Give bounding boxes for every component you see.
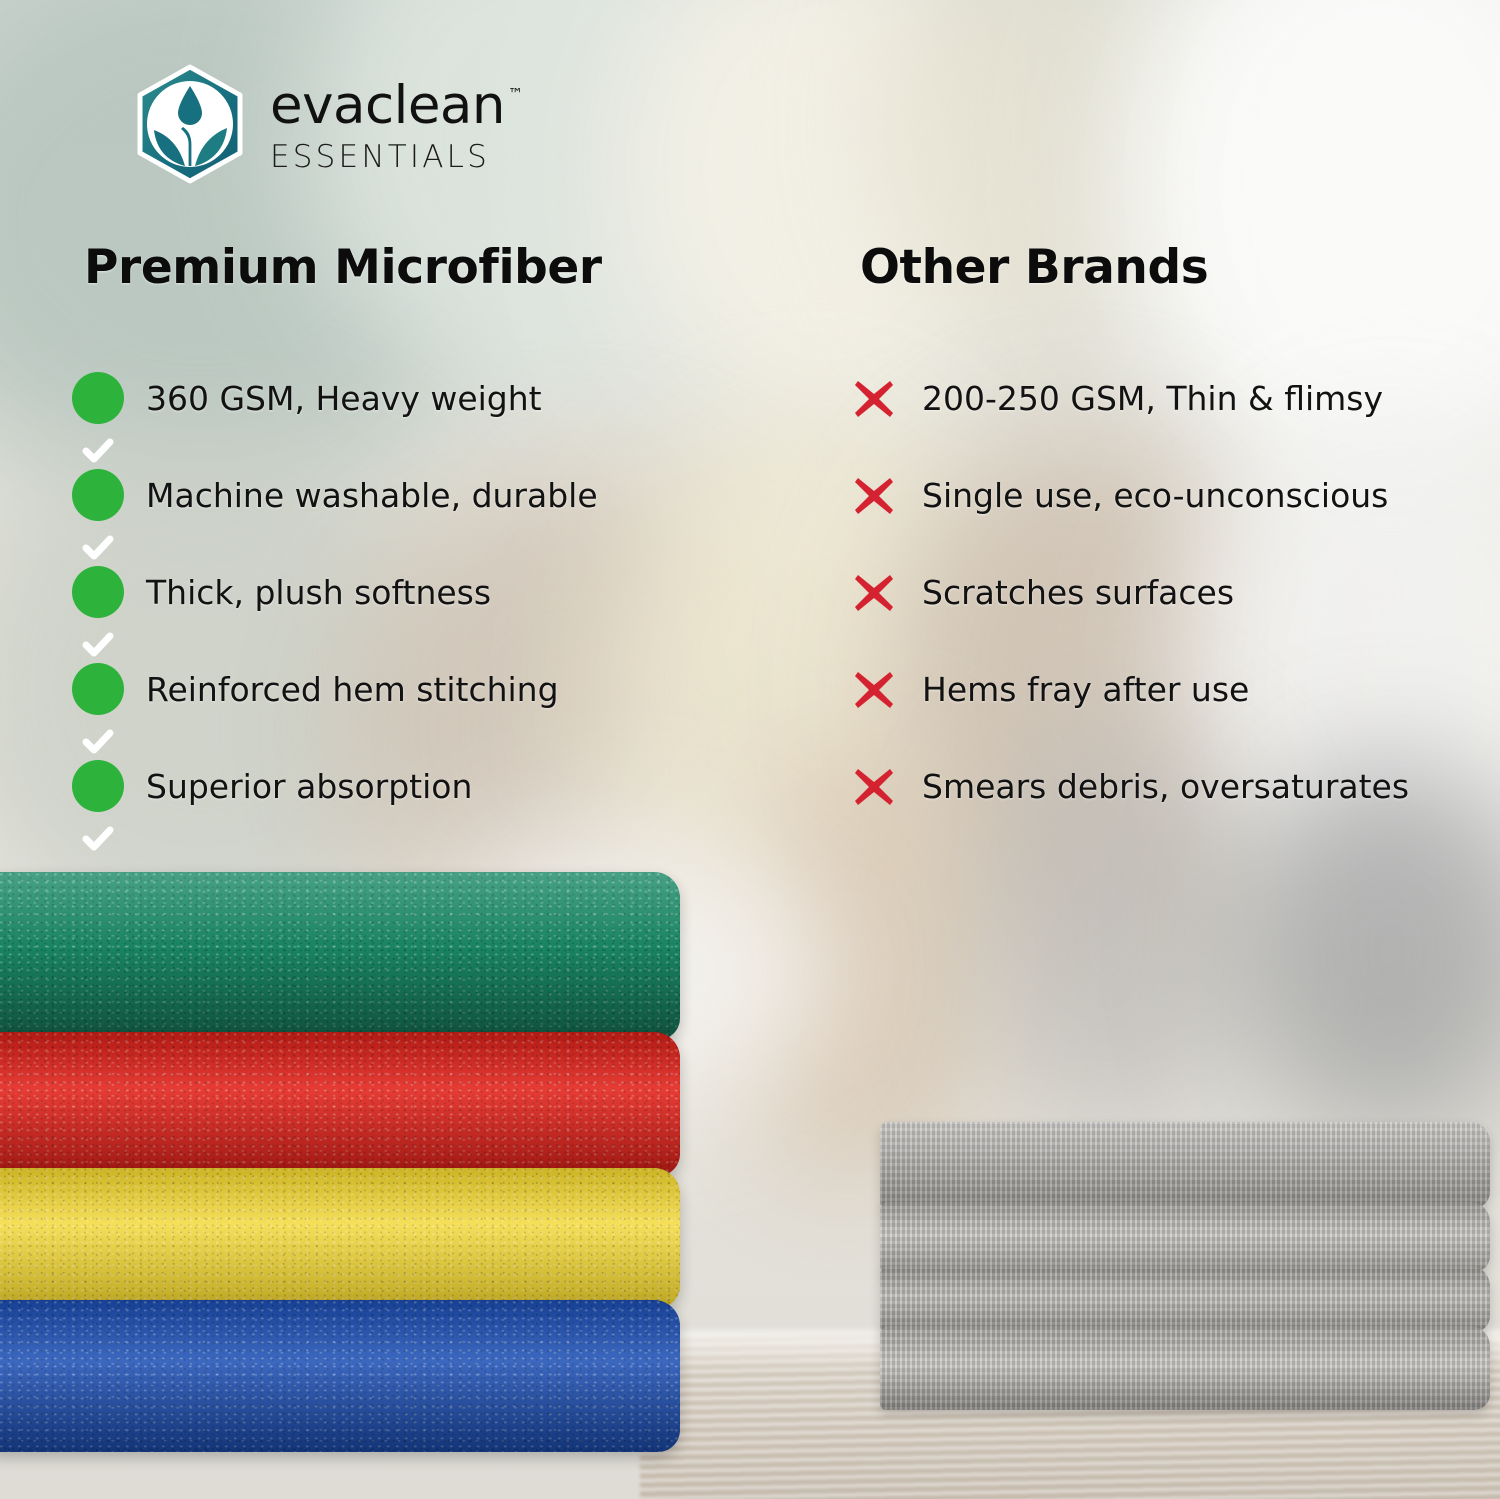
list-item: Smears debris, oversaturates bbox=[848, 760, 1488, 812]
list-item-label: Superior absorption bbox=[146, 770, 472, 803]
premium-column-heading: Premium Microfiber bbox=[84, 240, 602, 295]
check-circle-icon bbox=[72, 566, 124, 618]
trademark-symbol: ™ bbox=[508, 85, 523, 103]
x-cross-icon bbox=[848, 469, 900, 521]
list-item: Hems fray after use bbox=[848, 663, 1488, 715]
premium-feature-list: 360 GSM, Heavy weight Machine washable, … bbox=[72, 372, 772, 812]
colored-microfiber-towel-stack bbox=[0, 872, 690, 1412]
x-cross-icon bbox=[848, 372, 900, 424]
towel-grey bbox=[880, 1202, 1490, 1272]
list-item-label: Thick, plush softness bbox=[146, 576, 491, 609]
list-item: Thick, plush softness bbox=[72, 566, 772, 618]
list-item: Scratches surfaces bbox=[848, 566, 1488, 618]
list-item: Machine washable, durable bbox=[72, 469, 772, 521]
x-cross-icon bbox=[848, 663, 900, 715]
list-item-label: Smears debris, oversaturates bbox=[922, 770, 1409, 803]
check-circle-icon bbox=[72, 663, 124, 715]
hexagon-leaf-droplet-logo-icon bbox=[128, 62, 252, 186]
list-item-label: Scratches surfaces bbox=[922, 576, 1234, 609]
list-item-label: 360 GSM, Heavy weight bbox=[146, 382, 542, 415]
other-brands-feature-list: 200-250 GSM, Thin & flimsy Single use, e… bbox=[848, 372, 1488, 812]
towel-blue bbox=[0, 1300, 680, 1452]
list-item-label: Reinforced hem stitching bbox=[146, 673, 559, 706]
list-item-label: 200-250 GSM, Thin & flimsy bbox=[922, 382, 1383, 415]
towel-red bbox=[0, 1032, 680, 1176]
towel-grey bbox=[880, 1122, 1490, 1208]
check-circle-icon bbox=[72, 760, 124, 812]
brand-wordmark: evaclean ™ ESSENTIALS bbox=[270, 75, 523, 173]
brand-name: evaclean bbox=[270, 79, 505, 132]
list-item: 200-250 GSM, Thin & flimsy bbox=[848, 372, 1488, 424]
towel-yellow bbox=[0, 1168, 680, 1308]
check-circle-icon bbox=[72, 372, 124, 424]
towel-grey bbox=[880, 1326, 1490, 1410]
other-brands-column-heading: Other Brands bbox=[860, 240, 1208, 295]
brand-tagline: ESSENTIALS bbox=[270, 142, 523, 173]
x-cross-icon bbox=[848, 760, 900, 812]
x-cross-icon bbox=[848, 566, 900, 618]
list-item-label: Machine washable, durable bbox=[146, 479, 598, 512]
list-item: 360 GSM, Heavy weight bbox=[72, 372, 772, 424]
towel-grey bbox=[880, 1266, 1490, 1332]
grey-microfiber-towel-stack bbox=[880, 1122, 1500, 1412]
check-circle-icon bbox=[72, 469, 124, 521]
list-item-label: Hems fray after use bbox=[922, 673, 1249, 706]
towel-green bbox=[0, 872, 680, 1040]
list-item: Single use, eco-unconscious bbox=[848, 469, 1488, 521]
brand-header: evaclean ™ ESSENTIALS bbox=[128, 62, 523, 186]
infographic-canvas: evaclean ™ ESSENTIALS Premium Microfiber… bbox=[0, 0, 1500, 1499]
list-item-label: Single use, eco-unconscious bbox=[922, 479, 1388, 512]
list-item: Reinforced hem stitching bbox=[72, 663, 772, 715]
list-item: Superior absorption bbox=[72, 760, 772, 812]
